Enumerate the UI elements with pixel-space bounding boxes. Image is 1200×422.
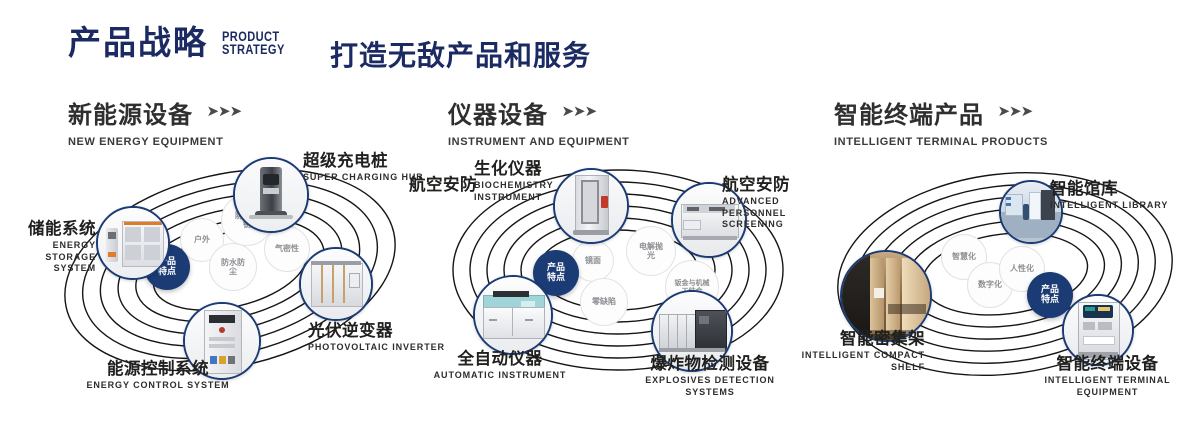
label-cn: 能源控制系统	[78, 360, 238, 377]
feature-bubble-electropolishing: 电解抛光	[626, 226, 676, 276]
label-cn: 光伏逆变器	[308, 322, 445, 339]
label-energy-control-system: 能源控制系统 ENERGY CONTROL SYSTEM	[78, 360, 238, 392]
poster-header: 产品战略 PRODUCT STRATEGY	[68, 26, 299, 59]
label-automatic-instrument: 全自动仪器 AUTOMATIC INSTRUMENT	[425, 350, 575, 382]
cluster-new-energy: 户外 防腐防锈 防水防尘 气密性 产品特点	[40, 150, 420, 390]
chevron-right-icon: ➤➤➤	[561, 102, 596, 120]
label-en: EXPLOSIVES DETECTION SYSTEMS	[635, 375, 785, 398]
page-subtitle: 打造无敌产品和服务	[330, 34, 591, 74]
section-title-en: INTELLIGENT TERMINAL PRODUCTS	[834, 136, 1048, 148]
label-cn: 航空安防	[722, 176, 808, 193]
section-title-new-energy: 新能源设备 ➤➤➤ NEW ENERGY EQUIPMENT	[68, 95, 241, 148]
section-title-cn: 智能终端产品	[834, 95, 984, 130]
node-biochemistry-instrument[interactable]	[553, 168, 629, 244]
section-title-cn: 仪器设备	[448, 95, 548, 130]
section-title-cn: 新能源设备	[68, 95, 193, 130]
page-title-en-line2: STRATEGY	[222, 43, 285, 56]
label-en: INTELLIGENT TERMINAL EQUIPMENT	[1020, 375, 1195, 398]
label-energy-storage-system: 储能系统 ENERGY STORAGE SYSTEM	[0, 220, 96, 274]
label-cn: 储能系统	[0, 220, 96, 237]
poster-canvas: 产品战略 PRODUCT STRATEGY 打造无敌产品和服务 新能源设备 ➤➤…	[0, 0, 1200, 422]
label-en: SUPER CHARGING HUB	[303, 172, 424, 183]
label-explosives-detection-systems: 爆炸物检测设备 EXPLOSIVES DETECTION SYSTEMS	[635, 355, 785, 398]
feature-bubble-waterproof: 防水防尘	[209, 243, 257, 291]
label-cn: 智能密集架	[790, 330, 925, 347]
chevron-right-icon: ➤➤➤	[997, 102, 1032, 120]
feature-bubble-text: 防水防尘	[219, 258, 247, 276]
node-automatic-instrument[interactable]	[473, 275, 553, 355]
label-cn: 生化仪器	[474, 160, 542, 177]
feature-bubble-zero-defect: 零缺陷	[580, 278, 628, 326]
feature-bubble-text: 电解抛光	[638, 242, 664, 260]
label-en: AUTOMATIC INSTRUMENT	[425, 370, 575, 381]
node-photovoltaic-inverter[interactable]	[299, 247, 373, 321]
label-en: ENERGY STORAGE SYSTEM	[0, 240, 96, 274]
label-biochemistry-instrument: 生化仪器 BIOCHEMISTRY INSTRUMENT	[474, 160, 542, 203]
label-intelligent-library: 智能馆库 INTELLIGENT LIBRARY	[1050, 180, 1168, 212]
label-cn: 智能馆库	[1050, 180, 1168, 197]
label-intelligent-compact-shelf: 智能密集架 INTELLIGENT COMPACT SHELF	[790, 330, 925, 373]
core-bubble-text: 产品特点	[1039, 285, 1061, 306]
node-energy-storage-system[interactable]	[96, 206, 170, 280]
chevron-right-icon: ➤➤➤	[206, 102, 241, 120]
node-super-charging-hub[interactable]	[233, 157, 309, 233]
label-cn: 超级充电桩	[303, 152, 424, 169]
label-cn: 全自动仪器	[425, 350, 575, 367]
label-aviation-security-left: 航空安防	[409, 176, 477, 193]
label-cn: 爆炸物检测设备	[635, 355, 785, 372]
section-title-instrument: 仪器设备 ➤➤➤ INSTRUMENT AND EQUIPMENT	[448, 95, 629, 148]
label-en: ENERGY CONTROL SYSTEM	[78, 380, 238, 391]
label-en: BIOCHEMISTRY INSTRUMENT	[474, 180, 530, 203]
label-en: INTELLIGENT LIBRARY	[1050, 200, 1168, 211]
section-title-intelligent-terminal: 智能终端产品 ➤➤➤ INTELLIGENT TERMINAL PRODUCTS	[834, 95, 1048, 148]
label-super-charging-hub: 超级充电桩 SUPER CHARGING HUB	[303, 152, 424, 184]
section-title-en: INSTRUMENT AND EQUIPMENT	[448, 136, 629, 148]
section-title-en: NEW ENERGY EQUIPMENT	[68, 136, 241, 148]
label-advanced-personnel-screening: 航空安防 ADVANCED PERSONNEL SCREENING	[722, 176, 808, 230]
label-intelligent-terminal-equipment: 智能终端设备 INTELLIGENT TERMINAL EQUIPMENT	[1020, 355, 1195, 398]
label-cn: 智能终端设备	[1020, 355, 1195, 372]
page-title: 产品战略	[68, 26, 208, 59]
page-title-english: PRODUCT STRATEGY	[222, 30, 285, 59]
feature-bubble-text: 气密性	[272, 244, 302, 253]
label-cn: 航空安防	[409, 176, 477, 193]
label-en: INTELLIGENT COMPACT SHELF	[790, 350, 925, 373]
label-photovoltaic-inverter: 光伏逆变器 PHOTOVOLTAIC INVERTER	[308, 322, 445, 354]
label-en: ADVANCED PERSONNEL SCREENING	[722, 196, 808, 230]
